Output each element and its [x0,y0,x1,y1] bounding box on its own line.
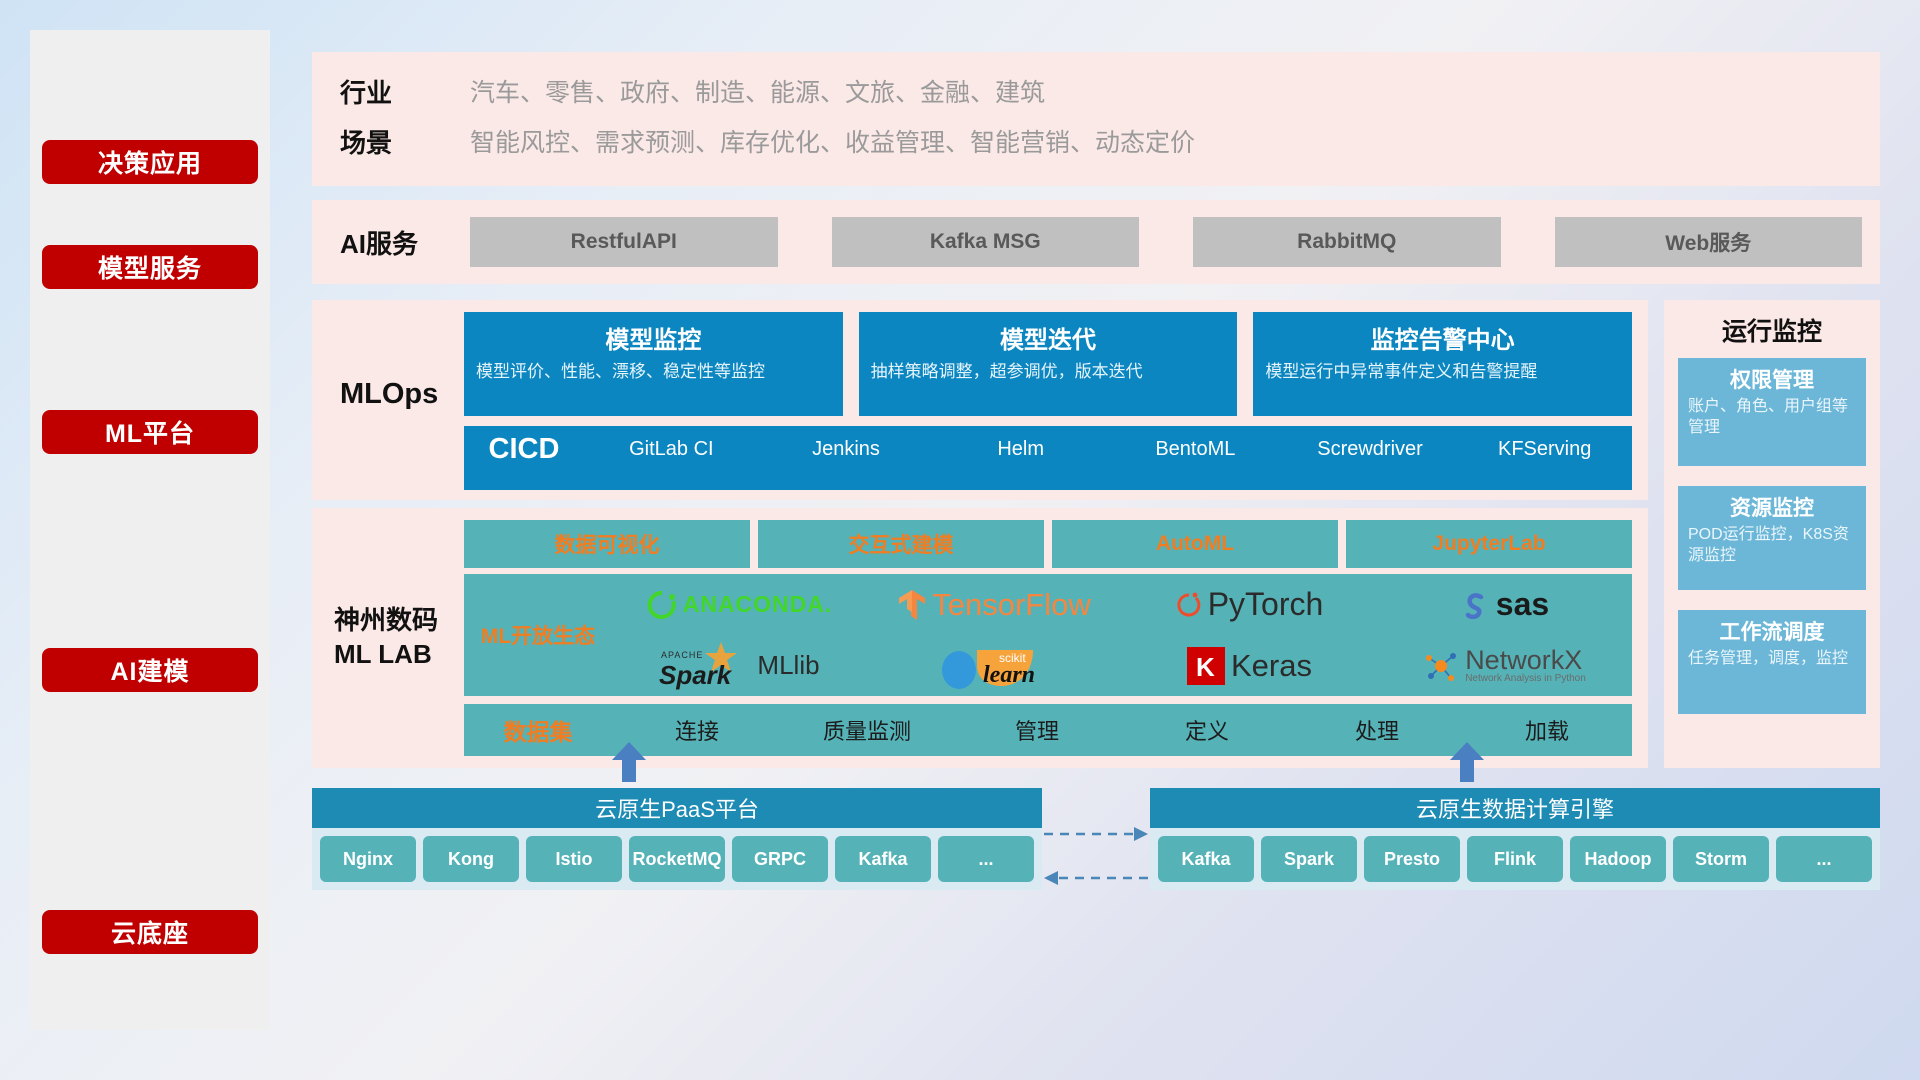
ai-service-chip-rabbitmq[interactable]: RabbitMQ [1193,217,1501,267]
cicd-item-bentoml[interactable]: BentoML [1108,434,1283,461]
cloud-chip-more[interactable]: ... [1776,836,1872,882]
ml-ecosystem-row: ML开放生态 ANACONDA. Ten [464,574,1632,696]
cloud-chip-presto[interactable]: Presto [1364,836,1460,882]
sidebar-item-model-service[interactable]: 模型服务 [42,245,258,289]
logo-label: TensorFlow [932,587,1091,623]
ml-lab-label-line2: ML LAB [334,638,438,672]
sidebar-item-label: 决策应用 [98,144,202,180]
logo-scikit-learn[interactable]: scikit learn [939,640,1051,692]
card-desc: 抽样策略调整，超参调优，版本迭代 [871,361,1226,384]
cloud-paas-tray: Nginx Kong Istio RocketMQ GRPC Kafka ... [312,828,1042,890]
logo-keras[interactable]: K Keras [1187,647,1312,685]
anaconda-icon [647,590,677,620]
modeling-cell-data-visualization[interactable]: 数据可视化 [464,520,750,568]
sidebar-item-ml-platform[interactable]: ML平台 [42,410,258,454]
monitor-card-resource[interactable]: 资源监控 POD运行监控，K8S资源监控 [1678,486,1866,590]
cloud-chip-kafka[interactable]: Kafka [1158,836,1254,882]
card-desc: 任务管理，调度，监控 [1688,649,1856,670]
card-desc: 模型评价、性能、漂移、稳定性等监控 [476,361,831,384]
svg-text:APACHE: APACHE [661,650,703,660]
mlops-band: MLOps 模型监控 模型评价、性能、漂移、稳定性等监控 模型迭代 抽样策略调整… [312,300,1648,500]
runtime-monitoring-panel: 运行监控 权限管理 账户、角色、用户组等管理 资源监控 POD运行监控，K8S资… [1664,300,1880,768]
svg-text:Spark: Spark [659,660,733,690]
sidebar-item-label: 模型服务 [98,249,202,285]
sidebar-item-label: 云底座 [111,914,189,950]
cloud-chip-storm[interactable]: Storm [1673,836,1769,882]
logo-anaconda[interactable]: ANACONDA. [647,590,833,620]
sidebar-item-decision-app[interactable]: 决策应用 [42,140,258,184]
cloud-chip-istio[interactable]: Istio [526,836,622,882]
ai-service-chip-kafka-msg[interactable]: Kafka MSG [832,217,1140,267]
arrow-up-icon [612,742,646,782]
scenario-row: 场景 智能风控、需求预测、库存优化、收益管理、智能营销、动态定价 [340,116,1880,166]
modeling-cell-jupyterlab[interactable]: JupyterLab [1346,520,1632,568]
cicd-item-screwdriver[interactable]: Screwdriver [1283,434,1458,461]
cloud-chip-flink[interactable]: Flink [1467,836,1563,882]
ml-ecosystem-label: ML开放生态 [464,620,612,650]
logo-spark-mllib[interactable]: APACHE Spark MLlib [659,640,819,692]
logo-pytorch[interactable]: PyTorch [1176,586,1324,623]
cloud-chip-nginx[interactable]: Nginx [320,836,416,882]
cloud-chip-kong[interactable]: Kong [423,836,519,882]
ai-service-label: AI服务 [340,224,470,261]
cloud-chip-spark[interactable]: Spark [1261,836,1357,882]
cicd-item-helm[interactable]: Helm [933,434,1108,461]
card-desc: POD运行监控，K8S资源监控 [1688,525,1856,567]
decision-app-band: 行业 汽车、零售、政府、制造、能源、文旅、金融、建筑 场景 智能风控、需求预测、… [312,52,1880,186]
logo-label: sas [1496,586,1549,623]
sidebar-item-label: ML平台 [105,414,195,450]
scenario-values: 智能风控、需求预测、库存优化、收益管理、智能营销、动态定价 [470,123,1195,159]
cloud-data-engine-group: 云原生数据计算引擎 Kafka Spark Presto Flink Hadoo… [1150,788,1880,890]
architecture-diagram: 决策应用 模型服务 ML平台 AI建模 云底座 行业 汽车、零售、政府、制造、能… [0,0,1920,1080]
runtime-monitoring-title: 运行监控 [1664,312,1880,348]
card-desc: 模型运行中异常事件定义和告警提醒 [1265,361,1620,384]
scikit-learn-icon: scikit learn [939,640,1051,692]
svg-text:learn: learn [983,662,1035,688]
industry-label: 行业 [340,73,470,110]
card-desc: 账户、角色、用户组等管理 [1688,397,1856,439]
dataset-item-quality-monitoring[interactable]: 质量监测 [782,714,952,746]
sidebar-item-label: AI建模 [110,652,189,688]
logo-label: PyTorch [1208,586,1324,623]
ml-lab-label-line1: 神州数码 [334,604,438,638]
svg-text:K: K [1196,652,1215,682]
mlops-card-model-iteration[interactable]: 模型迭代 抽样策略调整，超参调优，版本迭代 [859,312,1238,416]
dataset-item-loading[interactable]: 加载 [1462,714,1632,746]
cicd-label: CICD [464,434,584,466]
bidirectional-connector [1042,820,1152,900]
sidebar-item-cloud-foundation[interactable]: 云底座 [42,910,258,954]
mlops-card-model-monitoring[interactable]: 模型监控 模型评价、性能、漂移、稳定性等监控 [464,312,843,416]
modeling-cell-interactive-modeling[interactable]: 交互式建模 [758,520,1044,568]
cloud-chip-kafka[interactable]: Kafka [835,836,931,882]
card-title: 工作流调度 [1688,616,1856,646]
cloud-chip-rocketmq[interactable]: RocketMQ [629,836,725,882]
tensorflow-icon [898,589,926,621]
cloud-chip-more[interactable]: ... [938,836,1034,882]
mlops-label: MLOps [340,378,438,411]
cicd-item-gitlab-ci[interactable]: GitLab CI [584,434,759,461]
dataset-label: 数据集 [464,713,612,747]
dataset-item-definition[interactable]: 定义 [1122,714,1292,746]
cloud-chip-hadoop[interactable]: Hadoop [1570,836,1666,882]
logo-networkx[interactable]: NetworkX Network Analysis in Python [1423,647,1586,684]
logo-label: Keras [1231,648,1312,684]
modeling-cell-automl[interactable]: AutoML [1052,520,1338,568]
cicd-item-jenkins[interactable]: Jenkins [759,434,934,461]
cloud-chip-grpc[interactable]: GRPC [732,836,828,882]
keras-icon: K [1187,647,1225,685]
spark-icon: APACHE Spark [659,640,751,692]
cloud-data-engine-bar: 云原生数据计算引擎 [1150,788,1880,828]
ai-service-chip-web-service[interactable]: Web服务 [1555,217,1863,267]
ml-lab-label: 神州数码 ML LAB [334,604,438,672]
dataset-item-management[interactable]: 管理 [952,714,1122,746]
logo-label: MLlib [757,650,819,681]
logo-sublabel: Network Analysis in Python [1465,674,1586,684]
ai-service-band: AI服务 RestfulAPI Kafka MSG RabbitMQ Web服务 [312,200,1880,284]
monitor-card-workflow[interactable]: 工作流调度 任务管理，调度，监控 [1678,610,1866,714]
mlops-card-alert-center[interactable]: 监控告警中心 模型运行中异常事件定义和告警提醒 [1253,312,1632,416]
cloud-paas-group: 云原生PaaS平台 Nginx Kong Istio RocketMQ GRPC… [312,788,1042,890]
card-title: 监控告警中心 [1265,320,1620,355]
pytorch-icon [1176,590,1202,620]
cicd-row: CICD GitLab CI Jenkins Helm BentoML Scre… [464,426,1632,490]
industry-row: 行业 汽车、零售、政府、制造、能源、文旅、金融、建筑 [340,66,1880,116]
card-title: 权限管理 [1688,364,1856,394]
logo-sas[interactable]: sas [1460,586,1549,623]
arrow-up-icon [1450,742,1484,782]
monitor-card-permission[interactable]: 权限管理 账户、角色、用户组等管理 [1678,358,1866,466]
industry-values: 汽车、零售、政府、制造、能源、文旅、金融、建筑 [470,73,1045,109]
sidebar-item-ai-modeling[interactable]: AI建模 [42,648,258,692]
ai-modeling-band: 神州数码 ML LAB 数据可视化 交互式建模 AutoML JupyterLa… [312,508,1648,768]
dataset-item-processing[interactable]: 处理 [1292,714,1462,746]
card-title: 资源监控 [1688,492,1856,522]
logo-label: ANACONDA. [683,591,833,618]
logo-label: NetworkX [1465,647,1586,674]
networkx-icon [1423,648,1459,684]
cloud-paas-bar: 云原生PaaS平台 [312,788,1042,828]
cloud-data-engine-tray: Kafka Spark Presto Flink Hadoop Storm ..… [1150,828,1880,890]
card-title: 模型迭代 [871,320,1226,355]
scenario-label: 场景 [340,123,470,160]
card-title: 模型监控 [476,320,831,355]
logo-tensorflow[interactable]: TensorFlow [898,587,1091,623]
sas-icon [1460,590,1490,620]
ai-service-chip-restfulapi[interactable]: RestfulAPI [470,217,778,267]
cicd-item-kfserving[interactable]: KFServing [1457,434,1632,461]
layer-rail: 决策应用 模型服务 ML平台 AI建模 云底座 [30,30,270,1030]
